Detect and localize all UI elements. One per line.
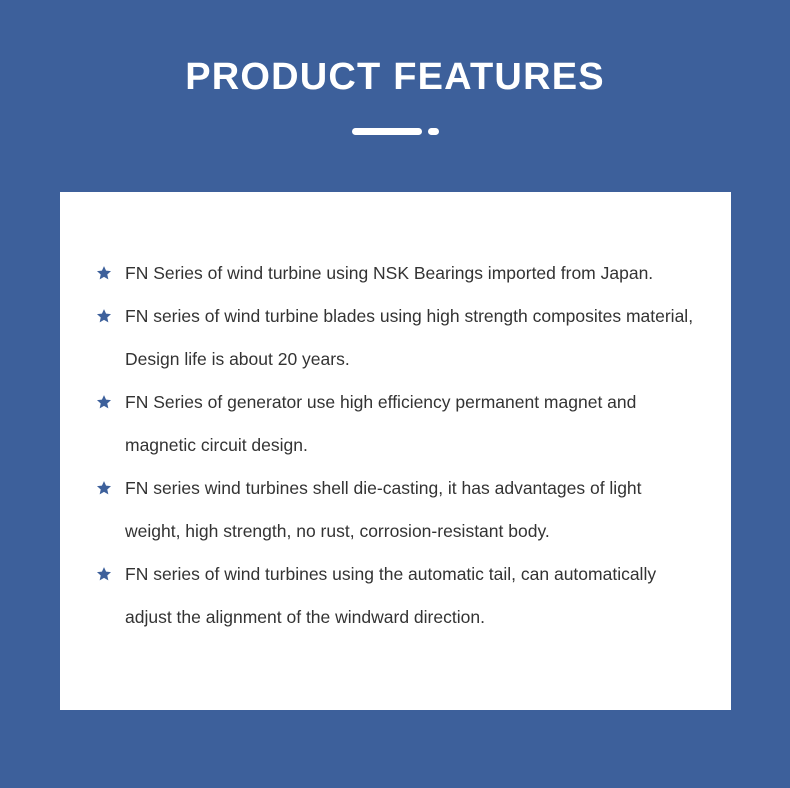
page-header: PRODUCT FEATURES	[0, 0, 790, 192]
star-icon	[96, 265, 112, 281]
page-title: PRODUCT FEATURES	[0, 54, 790, 100]
features-card: FN Series of wind turbine using NSK Bear…	[60, 192, 731, 710]
feature-text: FN Series of generator use high efficien…	[125, 381, 701, 467]
star-icon	[96, 394, 112, 410]
feature-list: FN Series of wind turbine using NSK Bear…	[96, 252, 701, 639]
feature-text: FN Series of wind turbine using NSK Bear…	[125, 252, 701, 295]
divider-bar-icon	[352, 128, 422, 135]
feature-text: FN series of wind turbine blades using h…	[125, 295, 701, 381]
list-item: FN Series of generator use high efficien…	[96, 381, 701, 467]
feature-text: FN series wind turbines shell die-castin…	[125, 467, 701, 553]
list-item: FN Series of wind turbine using NSK Bear…	[96, 252, 701, 295]
product-features-page: PRODUCT FEATURES FN Series of wind turbi…	[0, 0, 790, 788]
title-divider	[0, 126, 790, 136]
feature-text: FN series of wind turbines using the aut…	[125, 553, 701, 639]
divider-dot-icon	[428, 128, 439, 135]
list-item: FN series of wind turbine blades using h…	[96, 295, 701, 381]
list-item: FN series of wind turbines using the aut…	[96, 553, 701, 639]
list-item: FN series wind turbines shell die-castin…	[96, 467, 701, 553]
star-icon	[96, 308, 112, 324]
star-icon	[96, 566, 112, 582]
star-icon	[96, 480, 112, 496]
